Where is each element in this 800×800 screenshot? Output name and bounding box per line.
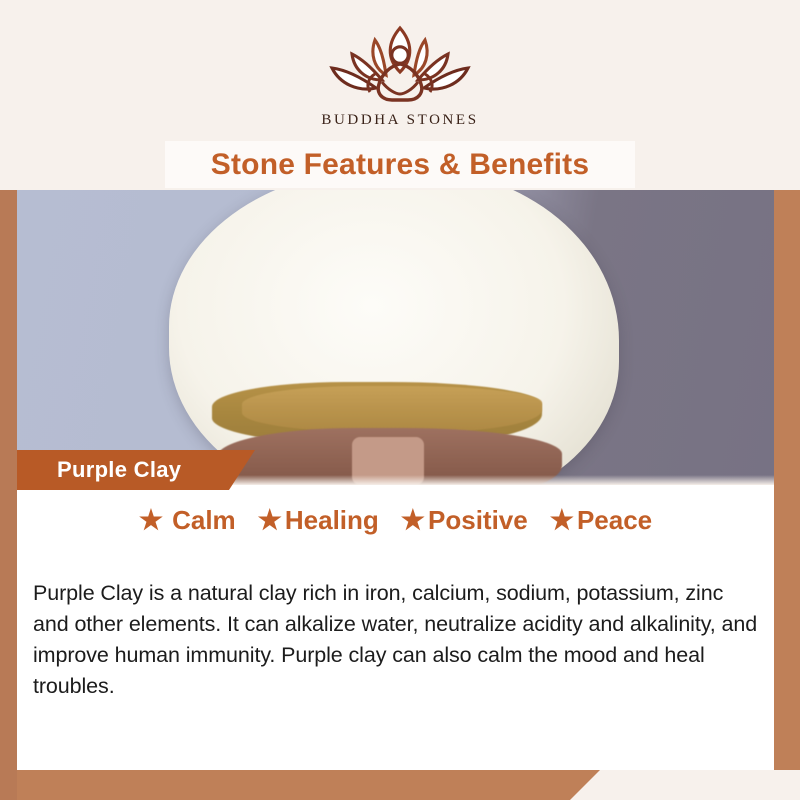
page-title-banner: Stone Features & Benefits [165,141,635,188]
feature-label-peace: Peace [577,505,652,536]
feature-item-positive: ★ Positive [401,505,528,536]
feature-label-positive: Positive [428,505,528,536]
lotus-meditation-figure-icon [312,18,488,110]
page-title: Stone Features & Benefits [211,148,589,182]
frame-left-bar [0,190,17,800]
feature-item-calm: ★ Calm [139,505,236,536]
product-name-tab: Purple Clay [17,450,255,490]
feature-label-calm: Calm [172,505,236,536]
product-photo [17,190,774,485]
star-icon: ★ [139,507,163,534]
feature-item-peace: ★ Peace [550,505,652,536]
brand-name: BUDDHA STONES [0,112,800,129]
poster-canvas: BUDDHA STONES Stone Features & Benefits … [0,0,800,800]
powder-band-tan [242,386,542,432]
product-name-label: Purple Clay [57,457,181,483]
feature-list: ★ Calm ★ Healing ★ Positive ★ Peace [17,505,774,536]
brand-logo: BUDDHA STONES [0,18,800,129]
frame-bottom-bar [0,770,600,800]
star-icon: ★ [401,507,425,534]
star-icon: ★ [550,507,574,534]
feature-item-healing: ★ Healing [258,505,379,536]
star-icon: ★ [258,507,282,534]
product-description: Purple Clay is a natural clay rich in ir… [33,578,763,702]
feature-label-healing: Healing [285,505,379,536]
